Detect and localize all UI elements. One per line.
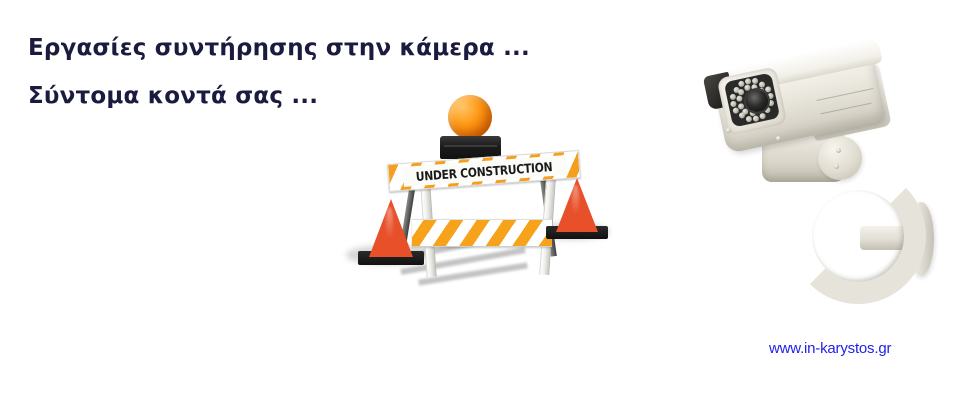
camera-ir-led — [764, 86, 771, 93]
maintenance-notice-banner: Εργασίες συντήρησης στην κάμερα ... Σύντ… — [0, 0, 960, 400]
cctv-camera-illustration — [700, 50, 950, 300]
beacon-light-icon — [448, 95, 492, 139]
cone-gloss-left — [386, 207, 393, 239]
camera-screw-2 — [776, 136, 781, 141]
camera-lens-icon — [746, 90, 768, 112]
camera-screw-4 — [834, 164, 839, 169]
notice-line-maintenance: Εργασίες συντήρησης στην κάμερα ... — [28, 24, 628, 72]
camera-ir-led — [742, 108, 749, 115]
barricade-striped-rail — [412, 219, 552, 247]
cone-gloss-right — [572, 185, 579, 215]
under-construction-illustration: UNDER CONSTRUCTION — [340, 95, 660, 295]
camera-screw-1 — [726, 128, 731, 133]
traffic-cone-left — [358, 193, 424, 265]
camera-ir-led — [730, 100, 737, 107]
camera-pivot-joint — [818, 136, 862, 180]
camera-screw-3 — [836, 148, 841, 153]
camera-ir-led — [737, 103, 744, 110]
camera-ir-led — [767, 92, 774, 99]
camera-ir-led — [735, 95, 742, 102]
website-url-link[interactable]: www.in-karystos.gr — [769, 340, 891, 357]
traffic-cone-right — [546, 173, 608, 239]
camera-gooseneck-arm — [790, 168, 926, 304]
camera-ir-led — [744, 84, 751, 91]
camera-ir-led — [767, 100, 774, 107]
camera-ir-led — [752, 115, 759, 122]
